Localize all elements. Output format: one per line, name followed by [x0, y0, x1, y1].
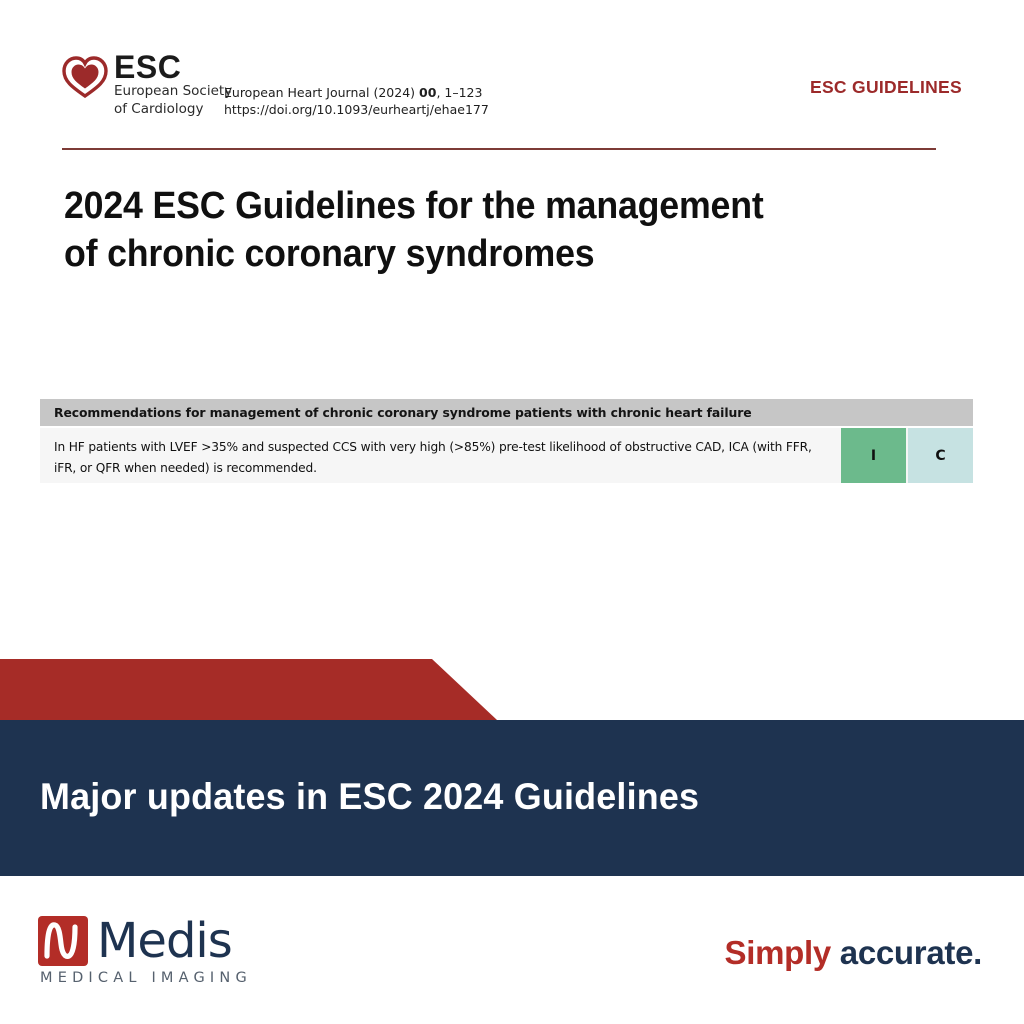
doi-link[interactable]: https://doi.org/10.1093/eurheartj/ehae17… [224, 101, 489, 118]
citation-prefix: European Heart Journal (2024) [224, 85, 419, 100]
header-divider-rule [62, 148, 936, 150]
headline-text: Major updates in ESC 2024 Guidelines [40, 776, 699, 818]
esc-brand-text: ESC [114, 52, 232, 82]
medis-tagline: Simply accurate. [724, 934, 982, 972]
recommendation-text: In HF patients with LVEF >35% and suspec… [40, 428, 839, 483]
medis-brand-text: Medis [97, 918, 232, 964]
tagline-word-simply: Simply [724, 934, 830, 971]
footer: Medis MEDICAL IMAGING Simply accurate. [0, 876, 1024, 1024]
esc-logo: ESC European Society of Cardiology [62, 52, 232, 117]
citation-suffix: , 1–123 [436, 85, 482, 100]
esc-heart-logo-icon [62, 56, 108, 98]
medis-brand-subtitle: MEDICAL IMAGING [40, 970, 252, 986]
esc-society-line-1: European Society [114, 84, 232, 100]
citation-line: European Heart Journal (2024) 00, 1–123 [224, 84, 489, 101]
medis-logo-top: Medis [38, 916, 252, 966]
page-title-line-1: 2024 ESC Guidelines for the management [64, 182, 854, 230]
tagline-space [831, 934, 840, 971]
slide-page: ESC European Society of Cardiology Europ… [0, 0, 1024, 1024]
esc-2024-banner-label: ESC 2024 [40, 17, 142, 43]
medis-logo: Medis MEDICAL IMAGING [38, 916, 252, 986]
esc-guidelines-tag: ESC GUIDELINES [810, 77, 962, 98]
tagline-word-accurate: accurate. [840, 934, 982, 971]
level-of-evidence-badge: C [908, 428, 973, 483]
journal-citation: European Heart Journal (2024) 00, 1–123 … [224, 84, 489, 118]
recommendation-table-header-label: Recommendations for management of chroni… [54, 405, 752, 420]
medis-waveform-mark-icon [38, 916, 88, 966]
journal-header: ESC European Society of Cardiology Europ… [62, 52, 962, 142]
class-of-recommendation-badge: I [841, 428, 906, 483]
recommendation-table: Recommendations for management of chroni… [40, 399, 973, 483]
esc-wordmark: ESC European Society of Cardiology [114, 52, 232, 117]
page-title-line-2: of chronic coronary syndromes [64, 230, 854, 278]
recommendation-table-header: Recommendations for management of chroni… [40, 399, 973, 426]
esc-2024-banner [0, 659, 500, 720]
esc-society-line-2: of Cardiology [114, 102, 232, 118]
table-row: In HF patients with LVEF >35% and suspec… [40, 428, 973, 483]
citation-volume: 00 [419, 85, 436, 100]
headline-band: Major updates in ESC 2024 Guidelines [0, 720, 1024, 876]
page-title: 2024 ESC Guidelines for the management o… [64, 182, 854, 278]
